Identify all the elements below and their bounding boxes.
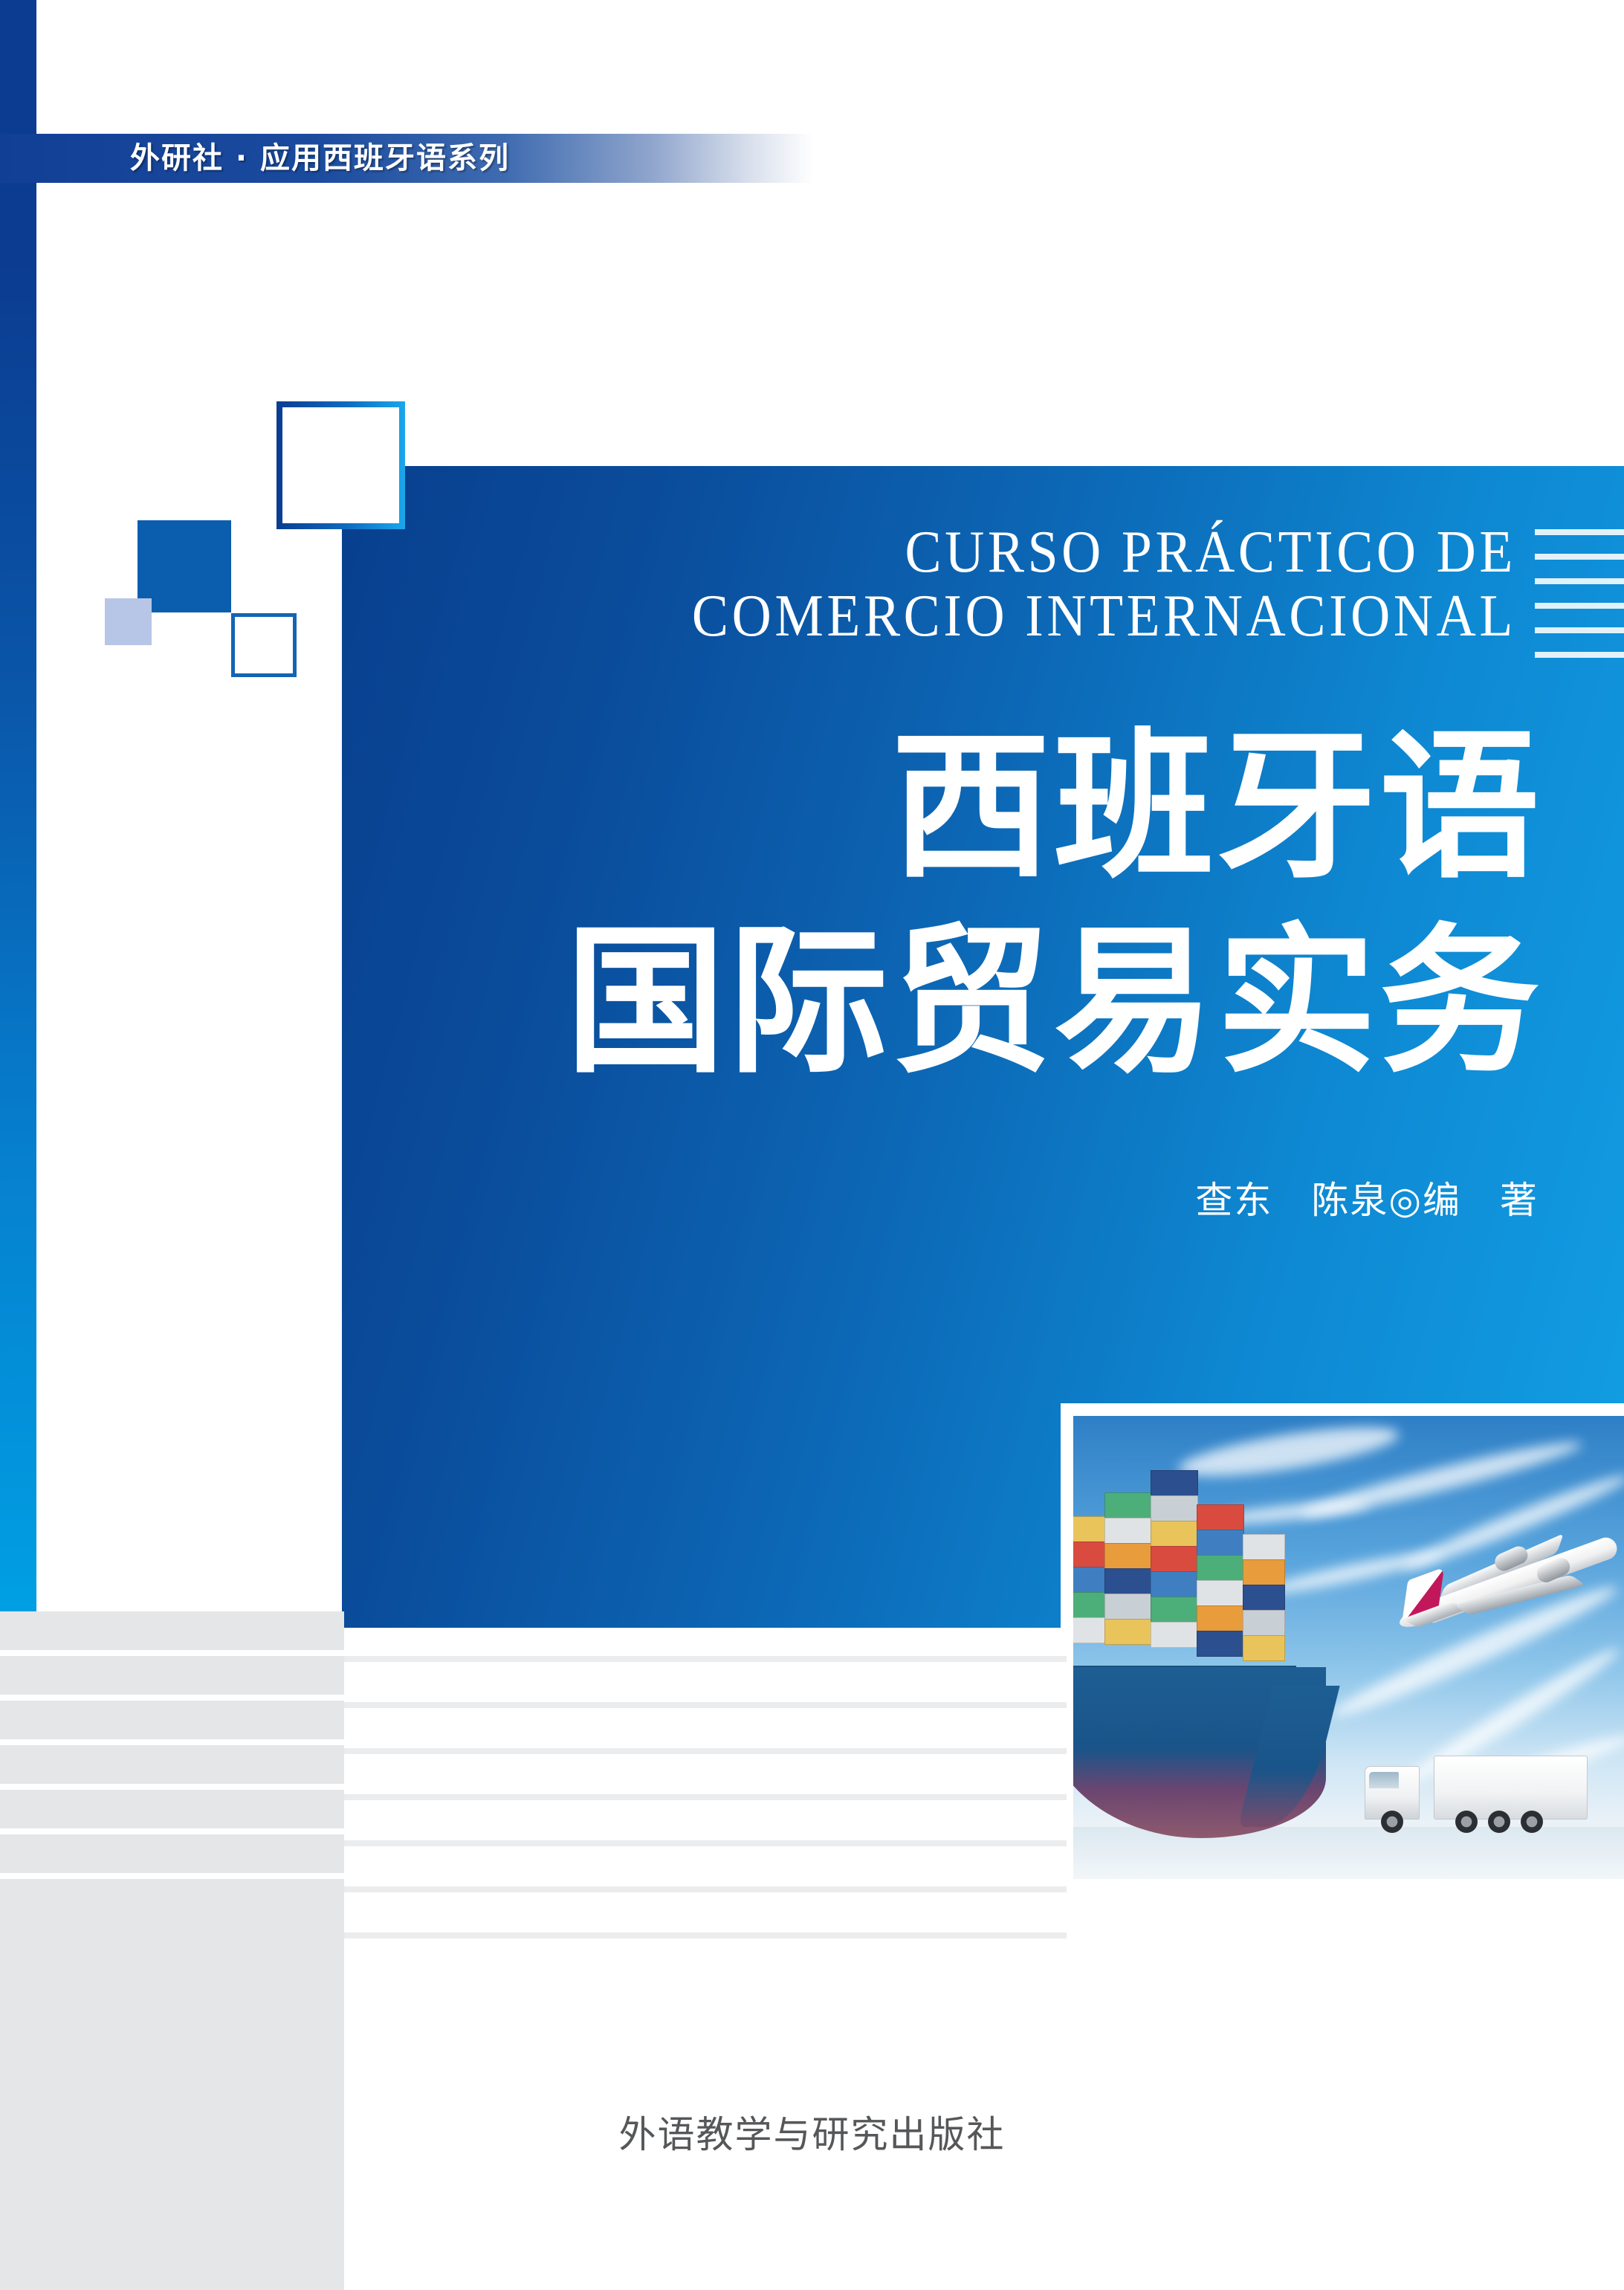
chinese-main-title: 西班牙语 国际贸易实务 xyxy=(461,710,1542,1100)
decor-square-outline-large-fill xyxy=(282,407,399,523)
semi-truck-icon xyxy=(1365,1739,1588,1836)
cargo-container xyxy=(1151,1470,1198,1496)
cargo-container xyxy=(1243,1534,1285,1560)
stripe xyxy=(344,1840,1067,1846)
cargo-container-stack xyxy=(1073,1470,1304,1667)
rule-line xyxy=(1535,603,1624,609)
stripe xyxy=(344,1794,1067,1800)
cargo-container xyxy=(1073,1567,1106,1593)
spanish-title-line-1: CURSO PRÁCTICO DE xyxy=(504,520,1516,584)
left-spine-gradient-bar xyxy=(0,0,36,1611)
truck-trailer xyxy=(1434,1756,1588,1820)
bottom-stripe-bands xyxy=(0,1611,1067,1886)
cargo-container xyxy=(1243,1585,1285,1611)
truck-wheel xyxy=(1381,1811,1403,1833)
spanish-title-line-2: COMERCIO INTERNACIONAL xyxy=(504,584,1516,648)
stripe xyxy=(0,1834,344,1873)
decor-rule-lines xyxy=(1535,529,1624,678)
book-cover: 外研社 · 应用西班牙语系列 CURSO PRÁCTICO DE COMERCI… xyxy=(0,0,1624,2290)
rule-line xyxy=(1535,652,1624,658)
cargo-container xyxy=(1243,1635,1285,1661)
logistics-photo xyxy=(1073,1416,1624,1879)
stripe xyxy=(344,1656,1067,1662)
stripe xyxy=(344,1886,1067,1892)
stripe xyxy=(344,1932,1067,1938)
cargo-container xyxy=(1197,1605,1244,1631)
cargo-container xyxy=(1243,1610,1285,1636)
cargo-container xyxy=(1073,1617,1106,1643)
cargo-container xyxy=(1104,1518,1152,1544)
cargo-container xyxy=(1197,1555,1244,1581)
cover-photo-frame xyxy=(1061,1403,1624,1879)
cargo-container xyxy=(1197,1580,1244,1606)
cargo-container xyxy=(1151,1597,1198,1623)
stripe xyxy=(0,1656,344,1695)
cargo-container xyxy=(1073,1542,1106,1568)
stripe-band-left xyxy=(0,1611,344,1886)
cargo-container xyxy=(1243,1559,1285,1585)
bottom-gray-block xyxy=(0,1884,344,2290)
truck-windshield xyxy=(1369,1772,1399,1788)
publisher-name: 外语教学与研究出版社 xyxy=(0,2105,1624,2158)
spanish-title: CURSO PRÁCTICO DE COMERCIO INTERNACIONAL xyxy=(504,520,1516,649)
cargo-container xyxy=(1104,1594,1152,1620)
cargo-container xyxy=(1104,1568,1152,1594)
cargo-container xyxy=(1151,1495,1198,1521)
stripe xyxy=(344,1702,1067,1708)
rule-line xyxy=(1535,578,1624,584)
cargo-container xyxy=(1104,1492,1152,1518)
rule-line xyxy=(1535,627,1624,633)
truck-wheel xyxy=(1488,1811,1510,1833)
decor-square-lavender xyxy=(105,598,152,645)
truck-wheel xyxy=(1455,1811,1478,1833)
rule-line xyxy=(1535,554,1624,560)
stripe xyxy=(0,1790,344,1828)
cargo-container xyxy=(1151,1521,1198,1547)
cargo-container xyxy=(1197,1530,1244,1556)
author-byline: 查东 陈泉◎编 著 xyxy=(743,1171,1539,1224)
series-banner-label: 外研社 · 应用西班牙语系列 xyxy=(130,138,510,178)
stripe-band-right xyxy=(344,1611,1067,1886)
cargo-container xyxy=(1197,1504,1244,1530)
decor-square-outline-small xyxy=(231,613,297,677)
cargo-container xyxy=(1073,1516,1106,1542)
cargo-container xyxy=(1073,1592,1106,1618)
truck-wheel xyxy=(1521,1811,1543,1833)
cargo-container xyxy=(1151,1546,1198,1572)
stripe xyxy=(0,1745,344,1784)
decor-square-outline-large xyxy=(276,401,405,529)
cargo-container xyxy=(1151,1622,1198,1648)
stripe xyxy=(0,1701,344,1739)
chinese-title-line-1: 西班牙语 xyxy=(461,710,1542,905)
stripe xyxy=(344,1748,1067,1754)
cargo-container xyxy=(1197,1631,1244,1657)
rule-line xyxy=(1535,529,1624,535)
cargo-container xyxy=(1104,1543,1152,1569)
stripe xyxy=(0,1611,344,1650)
cargo-container xyxy=(1151,1571,1198,1597)
chinese-title-line-2: 国际贸易实务 xyxy=(461,905,1542,1099)
cargo-container xyxy=(1104,1619,1152,1645)
stripe-spacer xyxy=(344,1611,1067,1656)
